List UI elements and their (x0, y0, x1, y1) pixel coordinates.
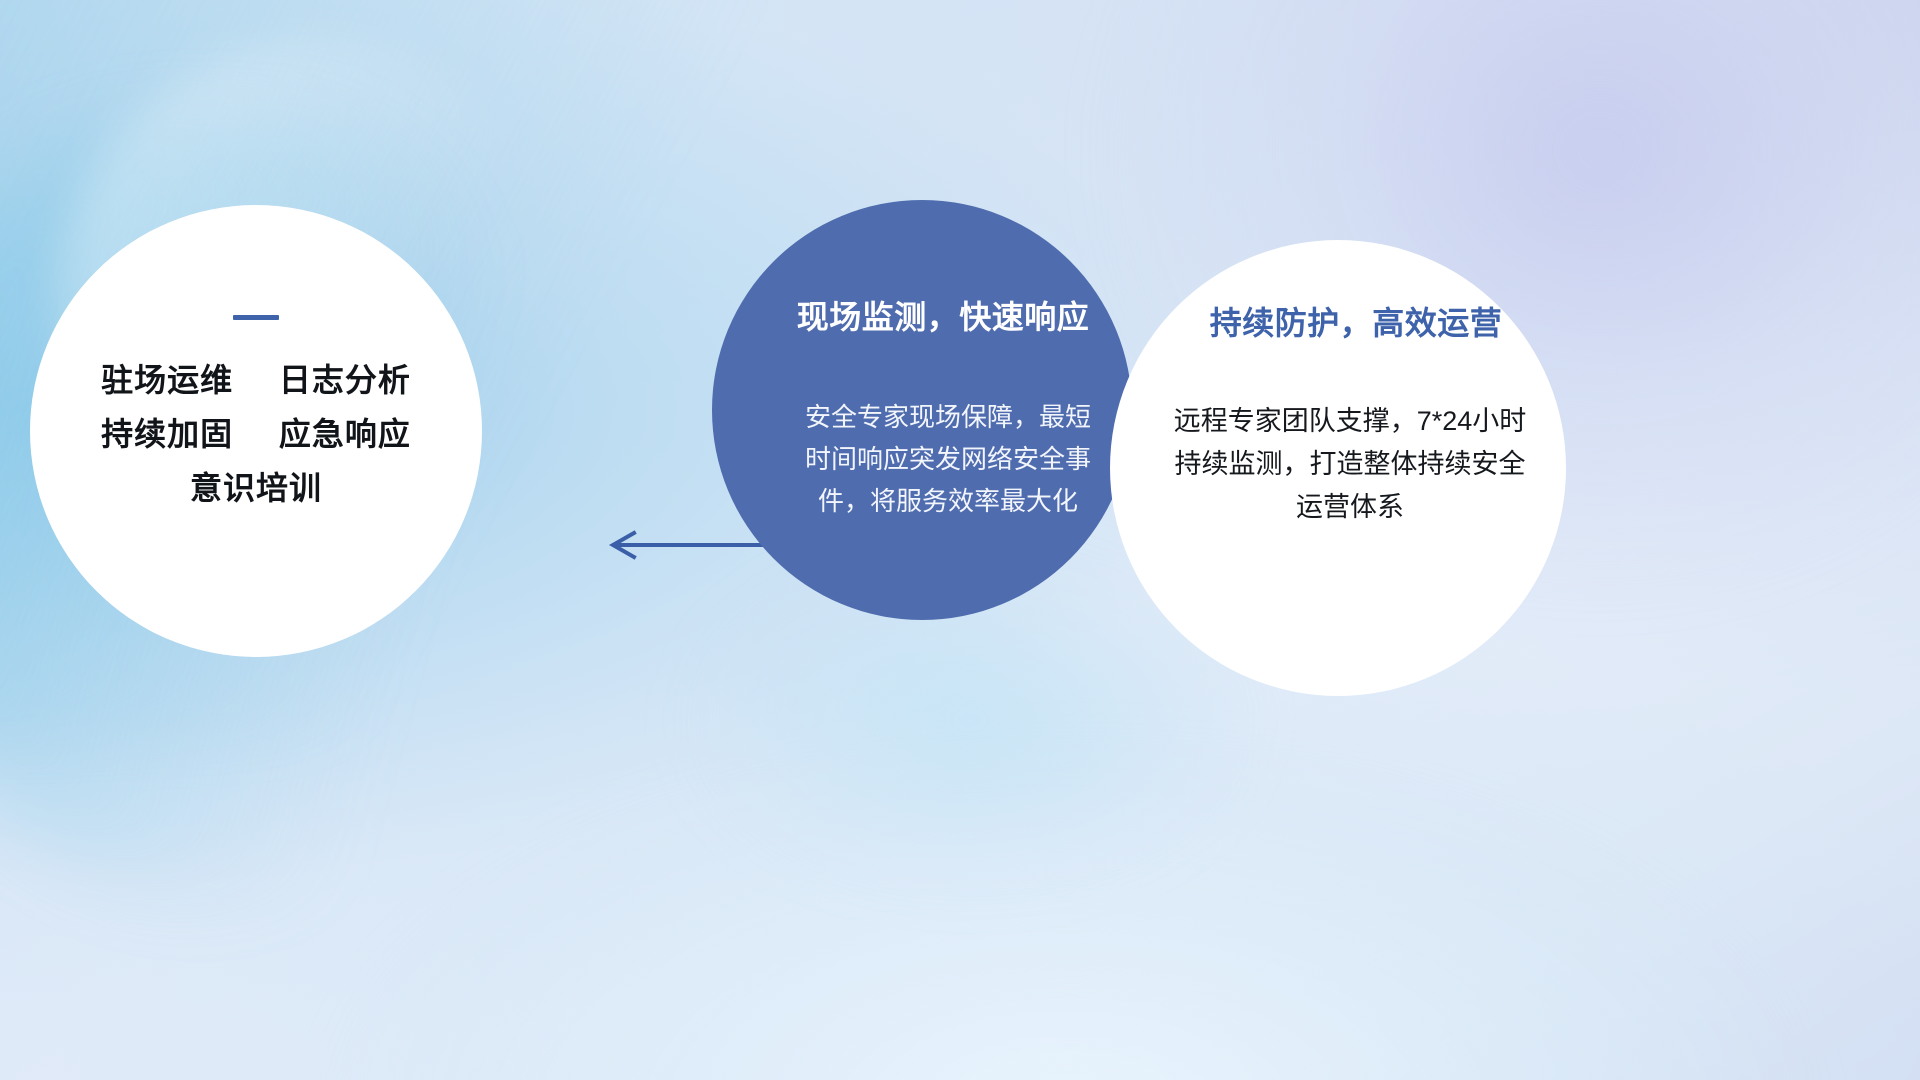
background-sheen-bottom (320, 740, 1820, 1080)
slide-canvas: 驻场运维 日志分析 持续加固 应急响应 意识培训 现场监测，快速响应 安全专家现… (0, 0, 1920, 1080)
continuous-title: 持续防护，高效运营 (1210, 298, 1503, 344)
capability-row: 持续加固 应急响应 (101, 416, 411, 454)
capability-row: 意识培训 (190, 470, 322, 508)
capability-label: 意识培训 (190, 470, 322, 506)
divider-dash (233, 315, 279, 320)
capabilities-list: 驻场运维 日志分析 持续加固 应急响应 意识培训 (101, 362, 411, 507)
capability-row: 驻场运维 日志分析 (101, 362, 411, 400)
onsite-circle: 现场监测，快速响应 安全专家现场保障，最短时间响应突发网络安全事件，将服务效率最… (712, 200, 1132, 620)
capability-label: 日志分析 (279, 362, 411, 398)
continuous-body: 远程专家团队支撑，7*24小时持续监测，打造整体持续安全运营体系 (1164, 400, 1536, 530)
continuous-circle: 持续防护，高效运营 远程专家团队支撑，7*24小时持续监测，打造整体持续安全运营… (1110, 240, 1566, 696)
onsite-body: 安全专家现场保障，最短时间响应突发网络安全事件，将服务效率最大化 (798, 396, 1098, 522)
onsite-title: 现场监测，快速响应 (797, 292, 1090, 338)
capability-label: 应急响应 (279, 416, 411, 452)
capabilities-circle: 驻场运维 日志分析 持续加固 应急响应 意识培训 (30, 205, 482, 657)
capability-label: 驻场运维 (101, 362, 233, 398)
capability-label: 持续加固 (101, 416, 233, 452)
